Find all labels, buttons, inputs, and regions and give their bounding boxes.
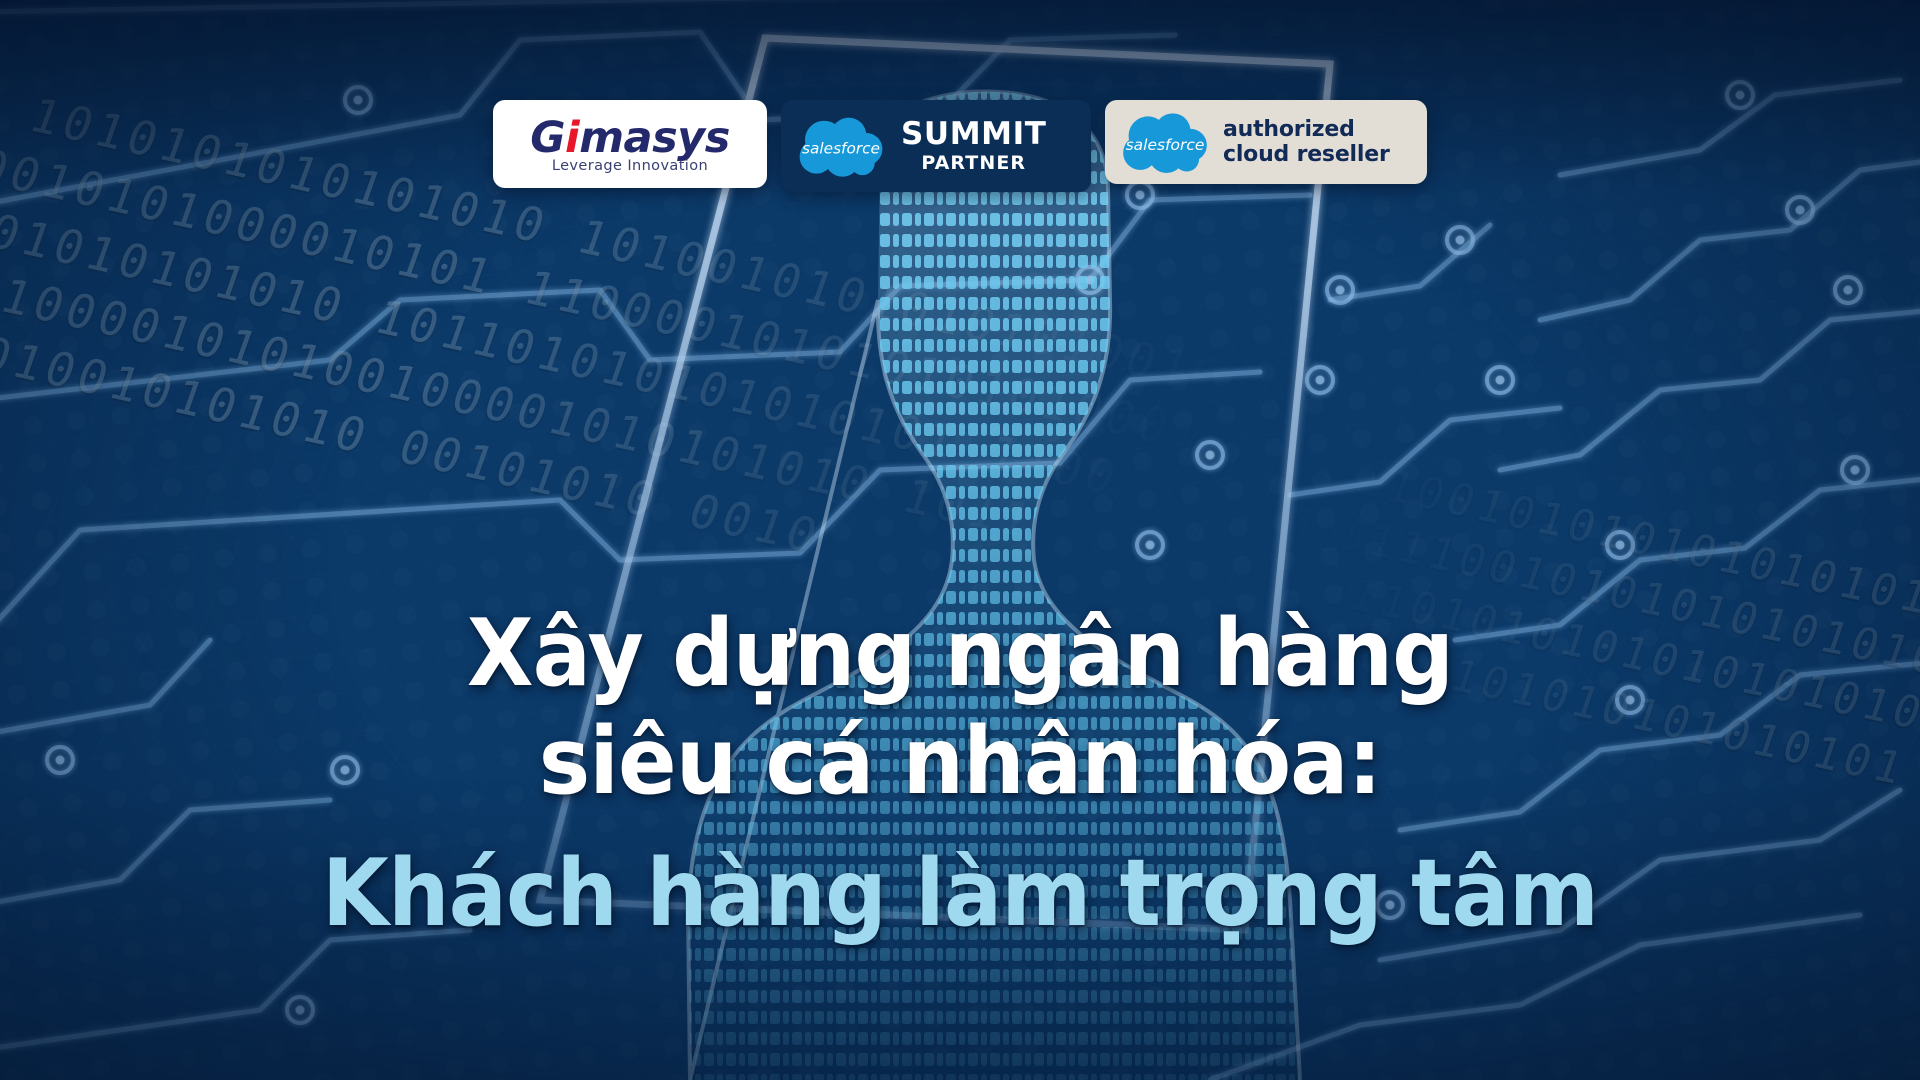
summit-label: SUMMIT [901, 119, 1046, 150]
headline-line-3: Khách hàng làm trọng tâm [67, 840, 1853, 948]
salesforce-cloud-wordmark: salesforce [802, 140, 880, 158]
headline-block: Xây dựng ngân hàng siêu cá nhân hóa: Khá… [0, 600, 1920, 948]
headline-line-1: Xây dựng ngân hàng [67, 600, 1853, 708]
logo-salesforce-authorized-cloud-reseller[interactable]: salesforce authorized cloud reseller [1105, 100, 1427, 184]
headline-line-2: siêu cá nhân hóa: [67, 708, 1853, 816]
gimasys-tagline: Leverage Innovation [552, 158, 708, 174]
logo-gimasys[interactable]: G i masys Leverage Innovation [493, 100, 767, 188]
logo-row: G i masys Leverage Innovation salesforce… [0, 100, 1920, 192]
logo-salesforce-summit-partner[interactable]: salesforce SUMMIT PARTNER [781, 100, 1091, 192]
gimasys-word-i-accent: i [565, 117, 579, 160]
reseller-line-1: authorized [1223, 117, 1390, 142]
salesforce-cloud-icon: salesforce [1117, 111, 1213, 173]
salesforce-cloud-icon: salesforce [795, 115, 887, 177]
partner-label: PARTNER [921, 154, 1026, 173]
gimasys-word-g: G [530, 117, 565, 160]
gimasys-word-rest: masys [579, 117, 730, 160]
salesforce-cloud-wordmark: salesforce [1126, 136, 1205, 154]
banner-canvas: 1010101010101010 1010010101010101001001 … [0, 0, 1920, 1080]
gimasys-wordmark: G i masys [530, 117, 730, 160]
reseller-line-2: cloud reseller [1223, 142, 1390, 167]
